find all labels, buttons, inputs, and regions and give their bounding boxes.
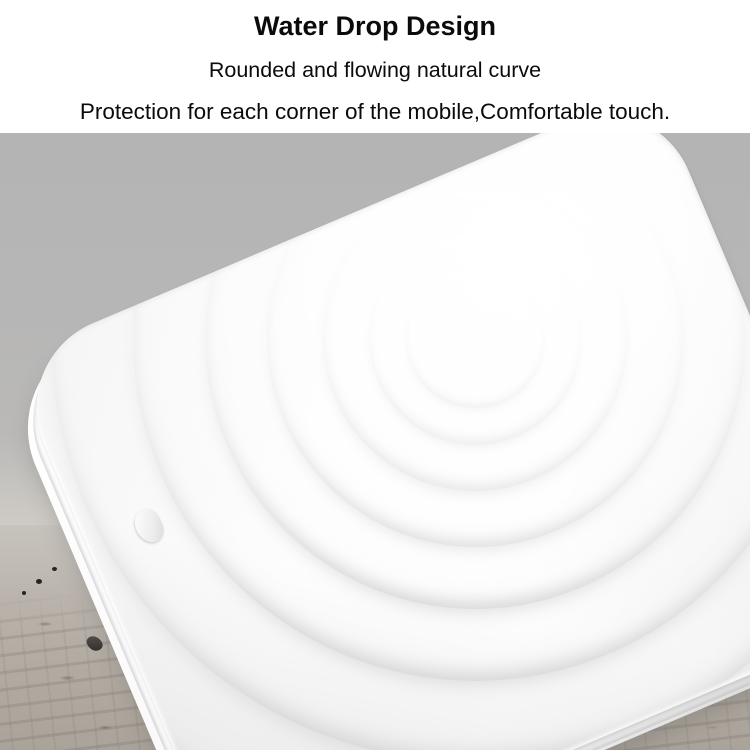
- debris-speck: [52, 567, 57, 571]
- debris-speck: [36, 579, 42, 584]
- product-photo: [0, 133, 750, 750]
- header-text-panel: Water Drop Design Rounded and flowing na…: [0, 0, 750, 133]
- description-text: Protection for each corner of the mobile…: [0, 99, 750, 125]
- subtitle-text: Rounded and flowing natural curve: [0, 58, 750, 83]
- product-feature-banner: Water Drop Design Rounded and flowing na…: [0, 0, 750, 750]
- debris-speck: [22, 591, 26, 595]
- ripple-ring-1: [406, 270, 544, 408]
- page-title: Water Drop Design: [0, 11, 750, 42]
